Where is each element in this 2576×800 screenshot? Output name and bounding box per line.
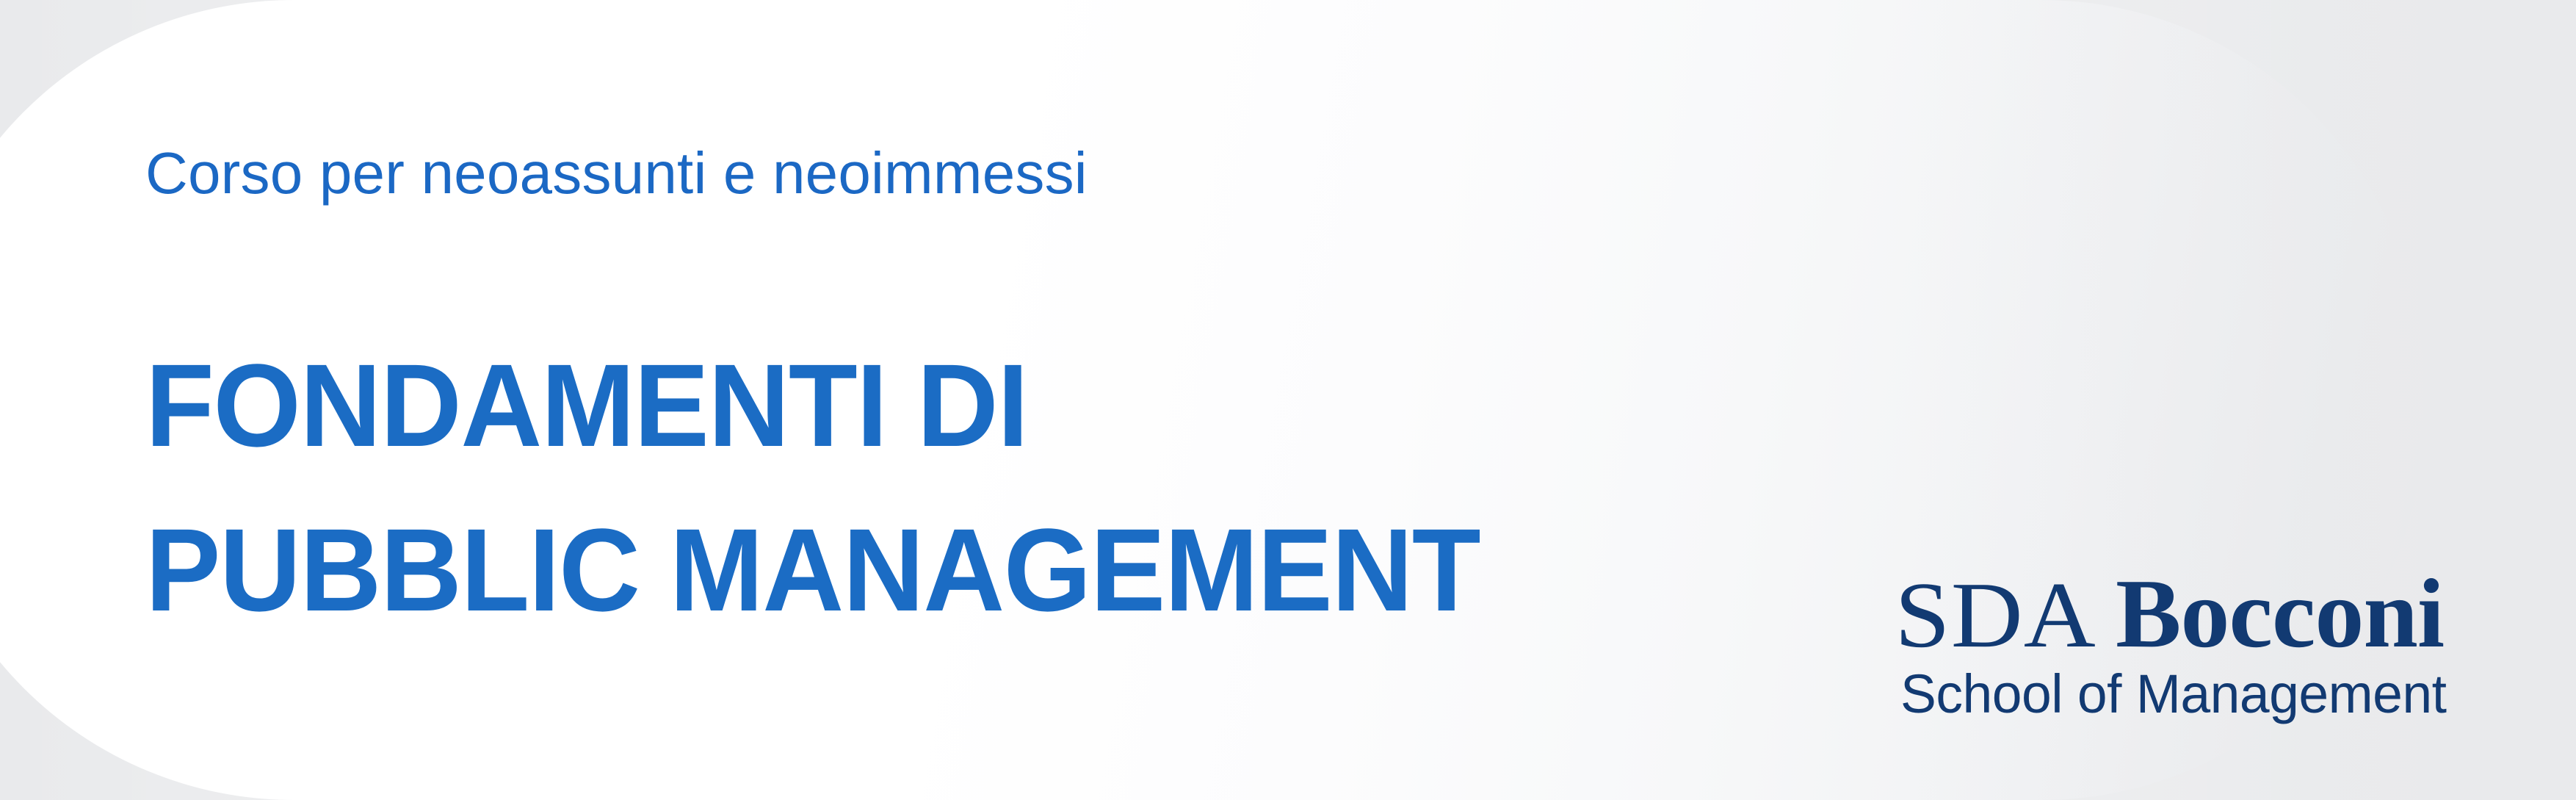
sda-bocconi-logo: SDA Bocconi School of Management [1900, 564, 2554, 721]
logo-tagline: School of Management [1900, 667, 2547, 721]
course-title-line-1: FONDAMENTI DI [145, 323, 1480, 488]
logo-bocconi-text: Bocconi [2116, 564, 2444, 663]
course-subtitle: Corso per neoassunti e neoimmessi [145, 144, 1088, 203]
course-title: FONDAMENTI DI PUBBLIC MANAGEMENT [145, 323, 1535, 652]
banner-content: Corso per neoassunti e neoimmessi FONDAM… [0, 0, 2576, 800]
course-banner: Corso per neoassunti e neoimmessi FONDAM… [0, 0, 2576, 800]
course-title-line-2: PUBBLIC MANAGEMENT [145, 488, 1480, 652]
logo-sda-text: SDA [1895, 568, 2096, 662]
logo-wordmark: SDA Bocconi [1900, 564, 2554, 663]
